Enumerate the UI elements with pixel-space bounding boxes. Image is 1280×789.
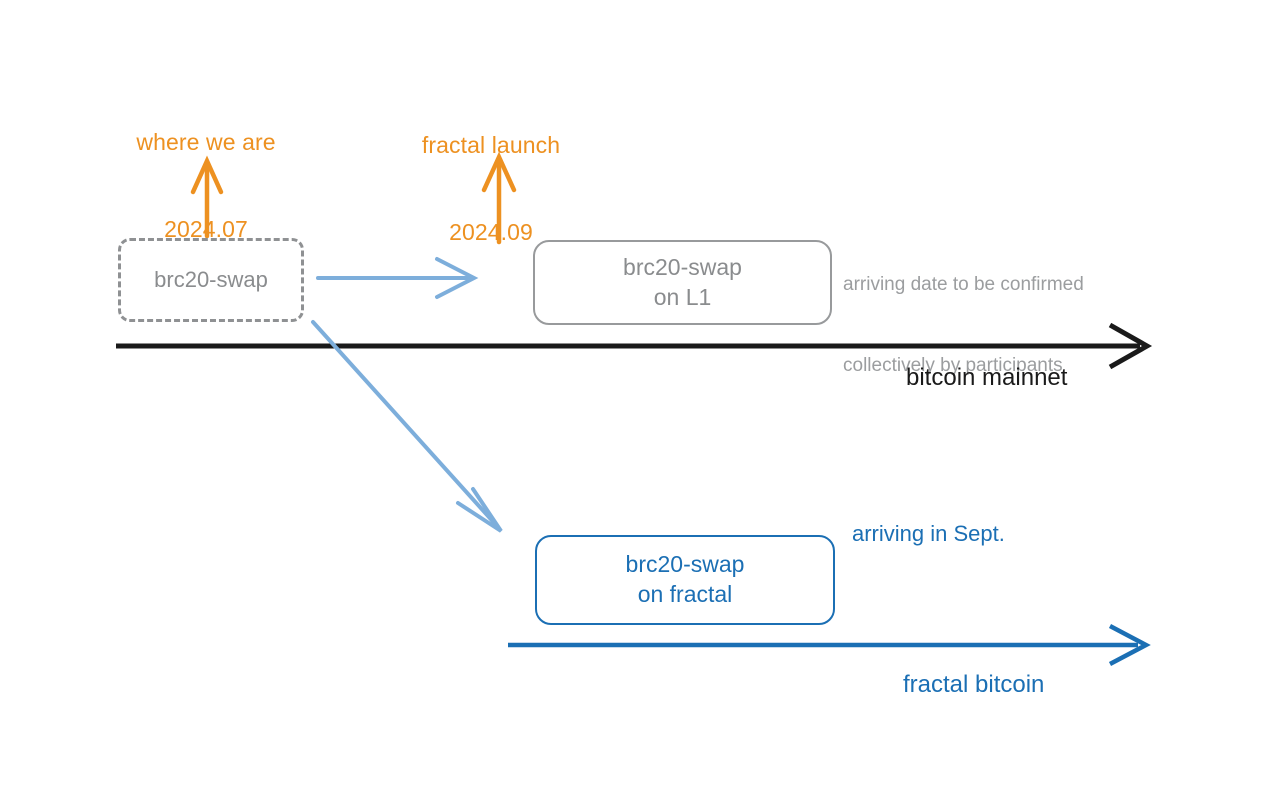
node-label-line2: on L1 bbox=[654, 283, 712, 313]
node-brc20-swap-current[interactable]: brc20-swap bbox=[118, 238, 304, 322]
fractal-bitcoin-axis bbox=[508, 626, 1146, 664]
flow-arrow-current-to-fractal-icon bbox=[313, 322, 501, 531]
annotation-line1: arriving date to be confirmed bbox=[843, 272, 1084, 299]
milestone-title: fractal launch bbox=[398, 131, 584, 160]
node-label-line1: brc20-swap bbox=[623, 253, 742, 283]
annotation-fractal-arriving-sept: arriving in Sept. bbox=[852, 520, 1005, 548]
milestone-title: where we are bbox=[108, 128, 304, 157]
node-label-line2: on fractal bbox=[638, 580, 733, 610]
node-brc20-swap-on-fractal[interactable]: brc20-swap on fractal bbox=[535, 535, 835, 625]
node-label: brc20-swap bbox=[154, 267, 268, 293]
annotation-l1-arriving-date: arriving date to be confirmed collective… bbox=[843, 218, 1084, 434]
axis-caption-bitcoin-mainnet: bitcoin mainnet bbox=[906, 363, 1067, 393]
axis-caption-fractal-bitcoin: fractal bitcoin bbox=[903, 670, 1044, 700]
node-label-line1: brc20-swap bbox=[626, 550, 745, 580]
diagram-canvas: where we are 2024.07 fractal launch 2024… bbox=[0, 0, 1280, 789]
node-brc20-swap-on-l1[interactable]: brc20-swap on L1 bbox=[533, 240, 832, 325]
